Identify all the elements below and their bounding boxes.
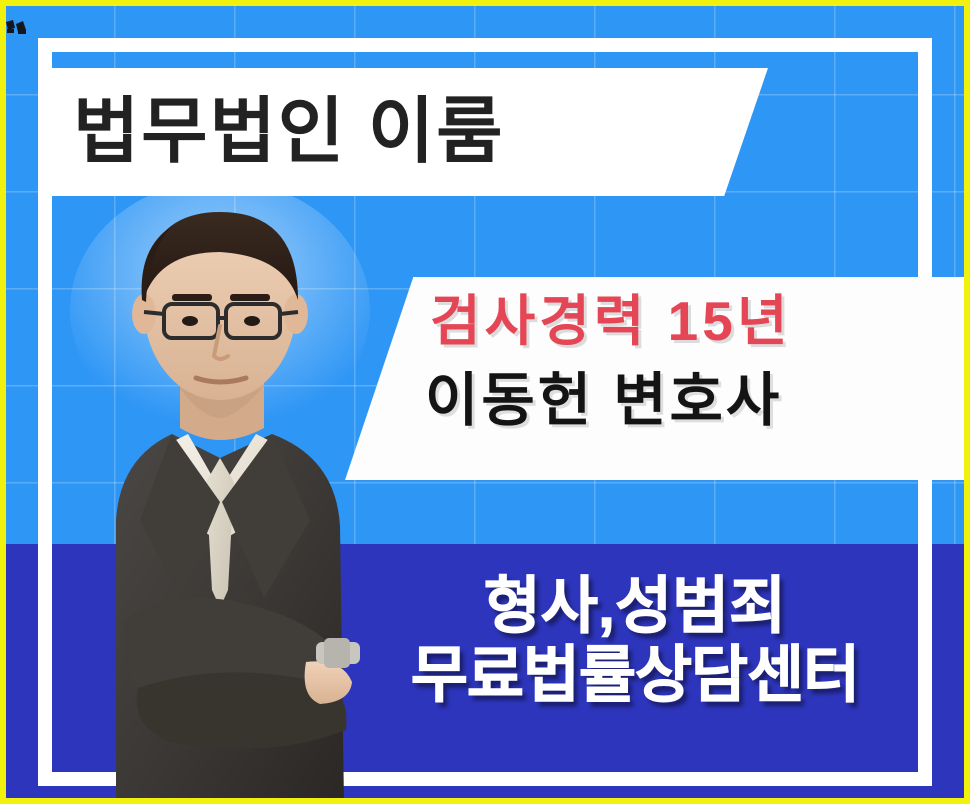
- watermark-icon: [5, 19, 31, 36]
- page-title: 법무법인 이룸: [73, 96, 504, 168]
- credential-name: 이동헌 변호사: [425, 369, 782, 433]
- service-center-name: 무료법률상담센터: [330, 644, 940, 707]
- credential-banner: 검사경력 15년 이동헌 변호사: [345, 277, 966, 480]
- credential-experience: 검사경력 15년: [430, 291, 791, 352]
- title-banner: 법무법인 이룸: [38, 68, 768, 196]
- service-headline: 형사,성범죄 무료법률상담센터: [330, 575, 940, 765]
- service-category: 형사,성범죄: [330, 575, 940, 638]
- promo-banner: 법무법인 이룸 검사경력 15년 이동헌 변호사 형사,성범죄 무료법률상담센터: [0, 0, 970, 804]
